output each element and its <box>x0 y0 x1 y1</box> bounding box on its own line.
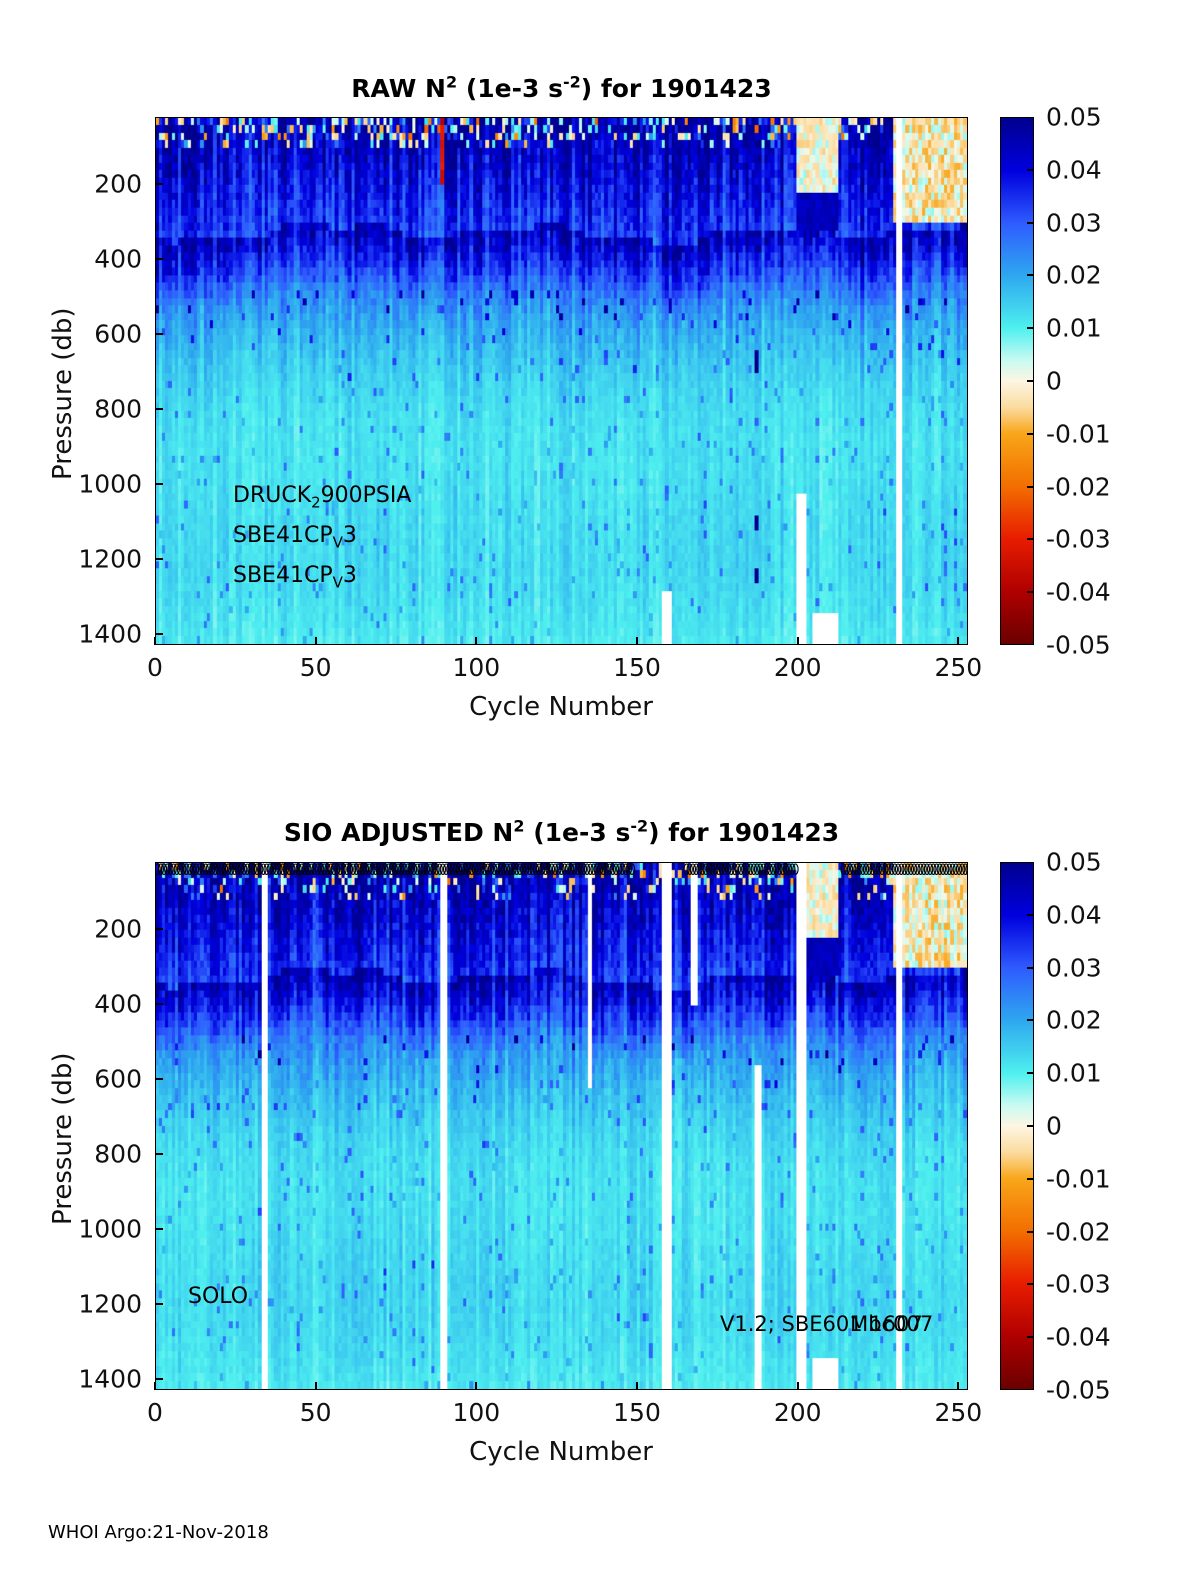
colorbar-tick-mark <box>1027 1231 1034 1233</box>
colorbar-tick-mark <box>1027 274 1034 276</box>
xtick-mark <box>797 1382 799 1390</box>
panel-adjusted-title: SIO ADJUSTED N2 (1e-3 s-2) for 1901423 <box>155 818 968 847</box>
ytick-label: 400 <box>70 245 142 274</box>
xtick-label: 50 <box>300 653 332 682</box>
ytick-label: 800 <box>70 395 142 424</box>
colorbar-tick-mark <box>1027 967 1034 969</box>
xtick-mark <box>475 637 477 645</box>
colorbar-tick-mark <box>1027 169 1034 171</box>
xtick-mark <box>315 637 317 645</box>
panel-raw-ylabel: Pressure (db) <box>48 307 78 480</box>
colorbar-tick-mark <box>1027 1178 1034 1180</box>
colorbar-tick-mark <box>1027 1283 1034 1285</box>
ytick-label: 1200 <box>70 1289 142 1318</box>
panel-adjusted-xlabel: Cycle Number <box>469 1437 653 1467</box>
xtick-label: 0 <box>147 1398 163 1427</box>
ytick-mark <box>155 408 163 410</box>
ytick-mark <box>155 1378 163 1380</box>
colorbar-tick-mark <box>1027 380 1034 382</box>
panel-adjusted-ylabel: Pressure (db) <box>48 1052 78 1225</box>
figure-footer: WHOI Argo:21-Nov-2018 <box>48 1522 269 1543</box>
xtick-mark <box>636 637 638 645</box>
colorbar-tick-label: -0.05 <box>1046 1376 1111 1405</box>
ytick-mark <box>155 558 163 560</box>
colorbar-tick-label: -0.04 <box>1046 1323 1111 1352</box>
colorbar-tick-label: 0.02 <box>1046 1006 1102 1035</box>
colorbar-tick-mark <box>1027 591 1034 593</box>
colorbar-tick-mark <box>1027 327 1034 329</box>
xtick-mark <box>475 1382 477 1390</box>
xtick-label: 0 <box>147 653 163 682</box>
ytick-mark <box>155 183 163 185</box>
colorbar-tick-label: -0.04 <box>1046 578 1111 607</box>
xtick-mark <box>154 1382 156 1390</box>
colorbar-tick-label: 0 <box>1046 367 1062 396</box>
plot-overlay-annotation: Mbc007 <box>850 1312 933 1336</box>
ytick-mark <box>155 1303 163 1305</box>
colorbar-tick-label: 0.04 <box>1046 900 1102 929</box>
xtick-label: 250 <box>935 1398 983 1427</box>
colorbar-tick-label: 0.05 <box>1046 848 1102 877</box>
ytick-mark <box>155 1003 163 1005</box>
ytick-mark <box>155 1153 163 1155</box>
colorbar-tick-label: 0.01 <box>1046 1059 1102 1088</box>
ytick-mark <box>155 633 163 635</box>
colorbar-tick-mark <box>1027 1072 1034 1074</box>
colorbar-tick-label: -0.02 <box>1046 1217 1111 1246</box>
ytick-label: 200 <box>70 170 142 199</box>
xtick-mark <box>636 1382 638 1390</box>
colorbar-tick-mark <box>1027 222 1034 224</box>
plot-annotation: SBE41CPV3 <box>233 523 357 548</box>
colorbar-tick-mark <box>1027 1336 1034 1338</box>
ytick-label: 1000 <box>70 469 142 498</box>
argo-n2-figure: RAW N2 (1e-3 s-2) for 1901423 2004006008… <box>0 0 1200 1575</box>
xtick-label: 50 <box>300 1398 332 1427</box>
ytick-label: 600 <box>70 1065 142 1094</box>
panel-adjusted-plot-area[interactable] <box>155 862 968 1390</box>
colorbar-tick-label: -0.05 <box>1046 631 1111 660</box>
ytick-label: 1400 <box>70 619 142 648</box>
colorbar-tick-label: -0.03 <box>1046 525 1111 554</box>
xtick-mark <box>797 637 799 645</box>
colorbar-tick-label: -0.03 <box>1046 1270 1111 1299</box>
colorbar-tick-mark <box>1027 538 1034 540</box>
ytick-label: 1400 <box>70 1364 142 1393</box>
plot-annotation: DRUCK2900PSIA <box>233 483 411 508</box>
ytick-mark <box>155 483 163 485</box>
plot-annotation: SBE41CPV3 <box>233 563 357 588</box>
colorbar-tick-mark <box>1027 486 1034 488</box>
ytick-label: 1200 <box>70 544 142 573</box>
xtick-label: 200 <box>774 1398 822 1427</box>
colorbar-tick-label: 0.03 <box>1046 208 1102 237</box>
xtick-label: 100 <box>452 653 500 682</box>
colorbar-tick-label: -0.01 <box>1046 1164 1111 1193</box>
xtick-label: 200 <box>774 653 822 682</box>
ytick-label: 800 <box>70 1140 142 1169</box>
panel-raw-title: RAW N2 (1e-3 s-2) for 1901423 <box>155 74 968 103</box>
colorbar-tick-mark <box>1027 433 1034 435</box>
ytick-label: 200 <box>70 915 142 944</box>
xtick-mark <box>315 1382 317 1390</box>
ytick-mark <box>155 1078 163 1080</box>
ytick-label: 1000 <box>70 1214 142 1243</box>
panel-raw-xlabel: Cycle Number <box>469 692 653 722</box>
xtick-label: 100 <box>452 1398 500 1427</box>
xtick-label: 250 <box>935 653 983 682</box>
colorbar-tick-mark <box>1027 1125 1034 1127</box>
colorbar-tick-mark <box>1027 1019 1034 1021</box>
heatmap-adjusted <box>156 863 967 1389</box>
colorbar-tick-label: 0.02 <box>1046 261 1102 290</box>
xtick-mark <box>154 637 156 645</box>
xtick-mark <box>957 1382 959 1390</box>
colorbar-tick-label: 0.03 <box>1046 953 1102 982</box>
ytick-mark <box>155 928 163 930</box>
colorbar-tick-label: 0 <box>1046 1112 1062 1141</box>
ytick-mark <box>155 333 163 335</box>
colorbar-tick-label: -0.02 <box>1046 472 1111 501</box>
colorbar-tick-label: 0.05 <box>1046 103 1102 132</box>
plot-annotation: SOLO <box>188 1284 248 1309</box>
xtick-label: 150 <box>613 653 661 682</box>
colorbar-tick-label: -0.01 <box>1046 419 1111 448</box>
ytick-label: 600 <box>70 320 142 349</box>
xtick-mark <box>957 637 959 645</box>
colorbar-tick-label: 0.01 <box>1046 314 1102 343</box>
ytick-mark <box>155 258 163 260</box>
ytick-mark <box>155 1228 163 1230</box>
ytick-label: 400 <box>70 990 142 1019</box>
colorbar-tick-mark <box>1027 914 1034 916</box>
xtick-label: 150 <box>613 1398 661 1427</box>
colorbar-tick-label: 0.04 <box>1046 155 1102 184</box>
